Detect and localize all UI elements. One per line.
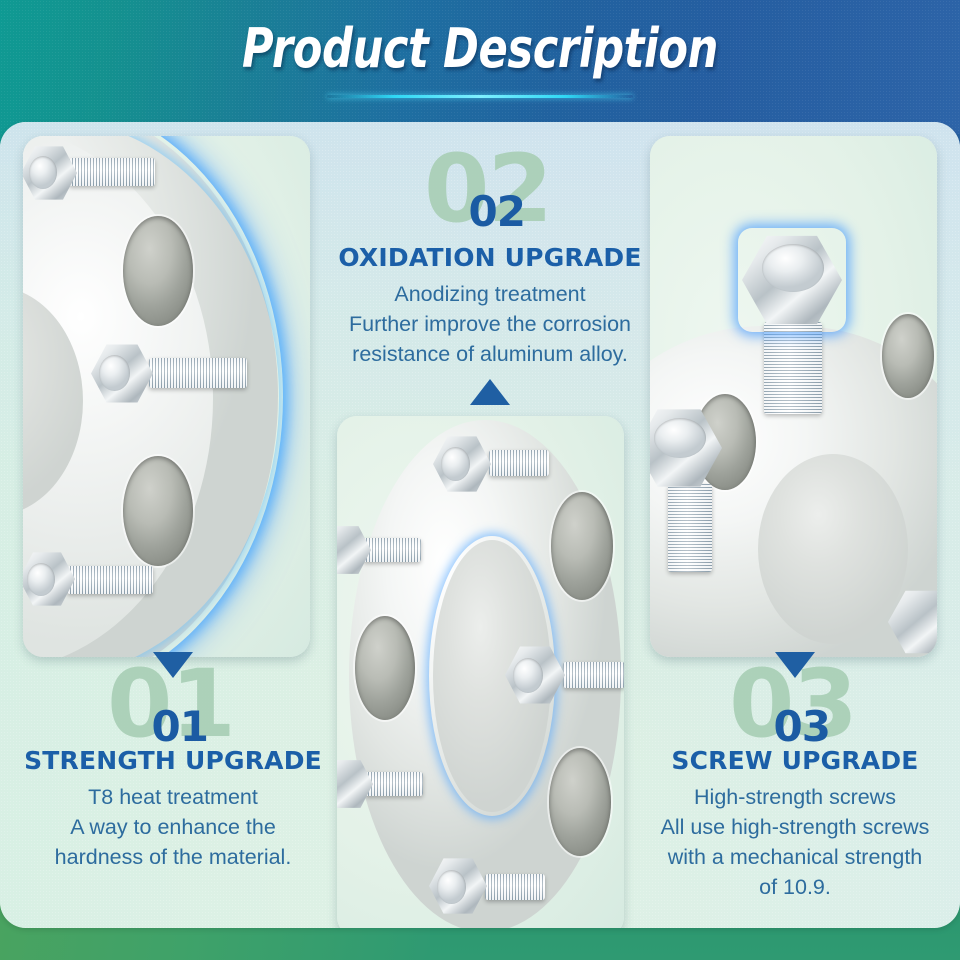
photo-bolt-closeup bbox=[650, 136, 937, 657]
bolt-nut-face bbox=[654, 418, 706, 458]
feature-block-01: 01 01 STRENGTH UPGRADE T8 heat treatment… bbox=[8, 652, 338, 872]
step-number: 03 bbox=[774, 706, 830, 748]
header-banner: Product Description bbox=[0, 0, 960, 134]
title-divider bbox=[327, 95, 633, 98]
bolt-shank bbox=[69, 158, 155, 186]
feature-body: T8 heat treatment A way to enhance the h… bbox=[8, 782, 338, 872]
lug-hole bbox=[551, 492, 613, 600]
bolt-nut-face bbox=[27, 563, 55, 596]
bolt-shank bbox=[489, 450, 549, 476]
photo-spacer-edge bbox=[23, 136, 310, 657]
bolt-shank bbox=[563, 662, 624, 688]
feature-body: Anodizing treatment Further improve the … bbox=[300, 279, 680, 369]
lug-hole bbox=[549, 748, 611, 856]
photo-spacer-front bbox=[337, 416, 624, 928]
feature-body: High-strength screws All use high-streng… bbox=[630, 782, 960, 902]
feature-heading: OXIDATION UPGRADE bbox=[300, 243, 680, 272]
bolt-nut-face bbox=[441, 447, 470, 481]
triangle-up-icon bbox=[470, 379, 510, 405]
triangle-down-icon bbox=[153, 652, 193, 678]
lug-hole bbox=[882, 314, 934, 398]
feature-number-02: 02 02 bbox=[300, 147, 680, 239]
triangle-down-icon bbox=[775, 652, 815, 678]
bolt-shank bbox=[485, 874, 545, 900]
bolt-shank bbox=[149, 358, 247, 388]
page-title: Product Description bbox=[96, 17, 864, 80]
lug-hole bbox=[355, 616, 415, 720]
bolt-nut-face bbox=[99, 355, 130, 391]
bolt-nut-face bbox=[437, 870, 466, 904]
step-number: 01 bbox=[152, 706, 208, 748]
bolt-shank bbox=[365, 772, 423, 796]
bolt-nut-face bbox=[513, 658, 543, 693]
bolt-shank bbox=[668, 484, 712, 572]
feature-block-02: 02 02 OXIDATION UPGRADE Anodizing treatm… bbox=[300, 147, 680, 405]
bolt-shank bbox=[363, 538, 421, 562]
content-panel: 02 02 OXIDATION UPGRADE Anodizing treatm… bbox=[0, 122, 960, 928]
blue-glow-bolt bbox=[738, 228, 846, 332]
highlighted-bolt-shank bbox=[764, 322, 822, 414]
lug-hole bbox=[123, 456, 193, 566]
center-bore bbox=[758, 454, 908, 644]
bolt-nut-face bbox=[29, 156, 57, 189]
product-description-infographic: Product Description bbox=[0, 0, 960, 960]
bolt-shank bbox=[67, 566, 153, 594]
feature-block-03: 03 03 SCREW UPGRADE High-strength screws… bbox=[630, 652, 960, 902]
step-number: 02 bbox=[469, 191, 525, 233]
lug-hole bbox=[123, 216, 193, 326]
